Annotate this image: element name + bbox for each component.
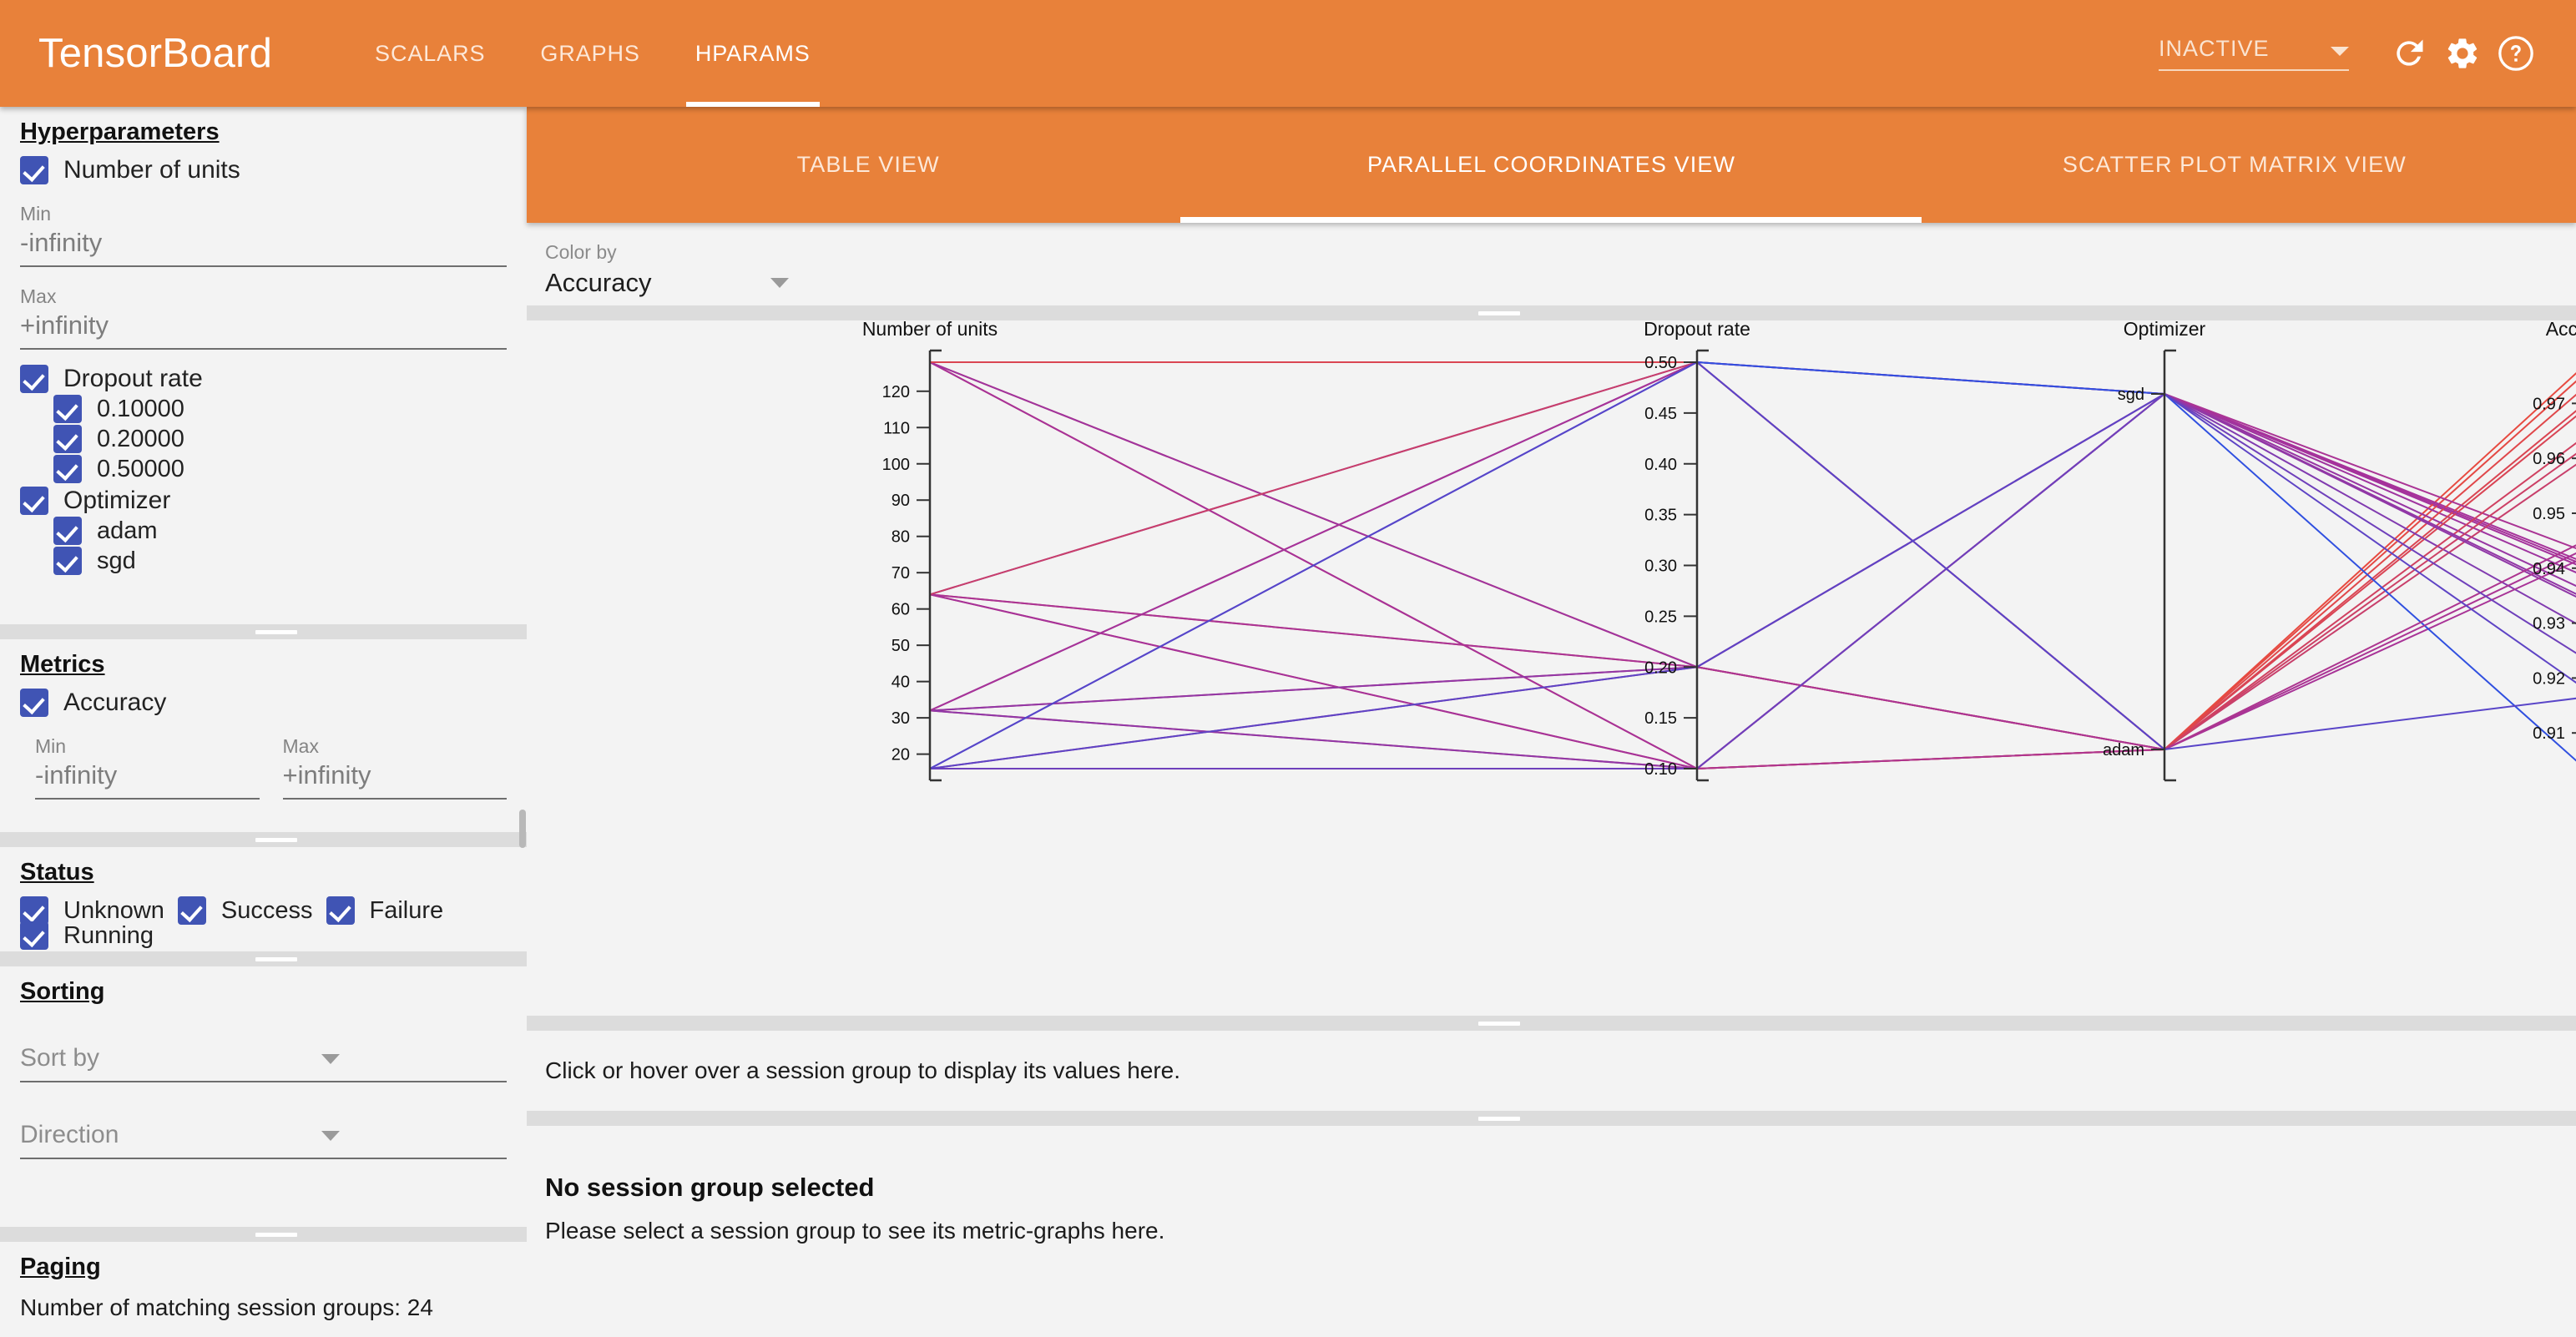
svg-text:0.35: 0.35 xyxy=(1644,507,1677,525)
svg-text:0.91: 0.91 xyxy=(2533,724,2565,743)
pc-line[interactable] xyxy=(930,362,2576,710)
sidebar: Hyperparameters Number of units Min -inf… xyxy=(0,107,527,1337)
svg-text:0.15: 0.15 xyxy=(1644,709,1677,728)
svg-text:Accuracy: Accuracy xyxy=(2546,320,2576,340)
checkbox-icon[interactable] xyxy=(53,547,82,575)
checkbox-icon[interactable] xyxy=(53,395,82,423)
svg-text:0.30: 0.30 xyxy=(1644,558,1677,576)
checkbox-icon[interactable] xyxy=(326,896,355,925)
sorting-panel: Sorting Sort by Direction xyxy=(0,966,527,1227)
svg-text:0.94: 0.94 xyxy=(2533,560,2565,578)
panel-resize-handle-3[interactable] xyxy=(0,951,527,966)
svg-text:80: 80 xyxy=(891,528,910,547)
sort-by-value: Sort by xyxy=(20,1044,507,1081)
checkbox-label: 0.20000 xyxy=(97,426,184,453)
hyperparameters-title: Hyperparameters xyxy=(20,107,220,146)
chevron-down-icon xyxy=(770,278,789,288)
run-status-value: INACTIVE xyxy=(2159,36,2270,62)
checkbox-label: Unknown xyxy=(63,897,164,925)
checkbox-label: adam xyxy=(97,517,158,545)
checkbox-row-number-of-units[interactable]: Number of units xyxy=(20,156,507,184)
pc-line[interactable] xyxy=(930,362,2576,749)
checkbox-icon[interactable] xyxy=(53,455,82,483)
svg-text:100: 100 xyxy=(882,456,910,474)
svg-text:sgd: sgd xyxy=(2118,386,2144,404)
parallel-coordinates-svg[interactable]: Number of units2030405060708090100110120… xyxy=(527,320,2576,1016)
svg-text:adam: adam xyxy=(2103,741,2144,759)
svg-text:0.95: 0.95 xyxy=(2533,505,2565,523)
checkbox-label: Failure xyxy=(370,897,444,925)
direction-value: Direction xyxy=(20,1121,507,1158)
status-panel: Status Unknown Success Failure Running xyxy=(0,847,527,951)
checkbox-icon[interactable] xyxy=(20,487,48,515)
panel-resize-handle-metrics[interactable] xyxy=(527,1111,2576,1126)
resize-grip-icon xyxy=(255,838,297,842)
header-actions: INACTIVE xyxy=(2159,27,2543,80)
direction-select[interactable]: Direction xyxy=(20,1121,507,1159)
pc-line[interactable] xyxy=(930,362,2576,769)
svg-text:0.25: 0.25 xyxy=(1644,608,1677,626)
resize-grip-icon xyxy=(1478,311,1520,315)
checkbox-icon[interactable] xyxy=(178,896,206,925)
checkbox-icon[interactable] xyxy=(20,921,48,950)
checkbox-label: 0.10000 xyxy=(97,396,184,423)
parallel-coordinates-chart[interactable]: Number of units2030405060708090100110120… xyxy=(527,320,2576,1016)
checkbox-row-status-failure[interactable]: Failure xyxy=(326,896,444,925)
svg-text:120: 120 xyxy=(882,383,910,401)
pc-line[interactable] xyxy=(930,394,2576,710)
session-values-panel: Click or hover over a session group to d… xyxy=(527,1031,2576,1111)
chevron-down-icon xyxy=(321,1131,340,1141)
pc-line[interactable] xyxy=(930,394,2576,769)
pc-line[interactable] xyxy=(930,362,2576,769)
svg-text:110: 110 xyxy=(883,419,910,437)
svg-text:0.96: 0.96 xyxy=(2533,450,2565,468)
svg-text:Number of units: Number of units xyxy=(862,320,998,340)
checkbox-row-status-unknown[interactable]: Unknown xyxy=(20,896,164,925)
panel-resize-handle-4[interactable] xyxy=(0,1227,527,1242)
pc-line[interactable] xyxy=(930,362,2576,749)
svg-text:50: 50 xyxy=(891,637,910,655)
app-title: TensorBoard xyxy=(38,30,272,77)
settings-gear-icon[interactable] xyxy=(2436,27,2489,80)
accuracy-min-field[interactable]: Min -infinity xyxy=(35,735,260,800)
pc-line[interactable] xyxy=(930,362,2576,594)
svg-text:0.45: 0.45 xyxy=(1644,405,1677,423)
svg-text:0.97: 0.97 xyxy=(2533,395,2565,413)
paging-panel: Paging Number of matching session groups… xyxy=(0,1242,527,1334)
checkbox-label: Running xyxy=(63,922,154,950)
svg-text:90: 90 xyxy=(891,492,910,510)
nav-item-scalars[interactable]: SCALARS xyxy=(347,0,513,107)
nav-item-graphs[interactable]: GRAPHS xyxy=(513,0,667,107)
svg-text:30: 30 xyxy=(891,709,910,728)
checkbox-icon[interactable] xyxy=(20,689,48,717)
main-nav: SCALARS GRAPHS HPARAMS xyxy=(347,0,838,107)
checkbox-row-status-running[interactable]: Running xyxy=(20,921,154,950)
resize-grip-icon xyxy=(1478,1117,1520,1121)
resize-grip-icon xyxy=(1478,1022,1520,1026)
pc-line[interactable] xyxy=(930,362,2576,749)
accuracy-min-label: Min xyxy=(35,735,260,758)
svg-text:0.50: 0.50 xyxy=(1644,354,1677,372)
refresh-icon[interactable] xyxy=(2382,27,2436,80)
units-max-input[interactable]: +infinity xyxy=(20,310,507,350)
chevron-down-icon xyxy=(2331,47,2349,56)
metrics-panel: Metrics Accuracy Min -infinity Max +infi… xyxy=(0,639,527,832)
pc-line[interactable] xyxy=(930,362,2576,769)
checkbox-icon[interactable] xyxy=(20,156,48,184)
metric-graphs-subtitle: Please select a session group to see its… xyxy=(545,1218,2576,1244)
checkbox-row-optimizer-1[interactable]: sgd xyxy=(53,547,507,575)
pc-line[interactable] xyxy=(930,541,2576,769)
main-content: TABLE VIEW PARALLEL COORDINATES VIEW SCA… xyxy=(527,107,2576,1337)
metric-graphs-panel: No session group selected Please select … xyxy=(527,1126,2576,1276)
accuracy-max-input[interactable]: +infinity xyxy=(283,760,508,800)
units-min-field[interactable]: Min -infinity xyxy=(20,203,507,267)
matching-session-groups-count: Number of matching session groups: 24 xyxy=(20,1294,507,1321)
svg-text:20: 20 xyxy=(891,746,910,764)
status-title: Status xyxy=(20,847,94,886)
checkbox-row-dropout-1[interactable]: 0.20000 xyxy=(53,425,507,453)
nav-item-hparams[interactable]: HPARAMS xyxy=(668,0,838,107)
sidebar-scrollbar-thumb[interactable] xyxy=(519,810,526,848)
checkbox-label: 0.50000 xyxy=(97,456,184,483)
paging-title: Paging xyxy=(20,1242,101,1281)
sorting-title: Sorting xyxy=(20,966,105,1006)
units-max-field[interactable]: Max +infinity xyxy=(20,285,507,350)
svg-text:0.92: 0.92 xyxy=(2533,669,2565,688)
chevron-down-icon xyxy=(321,1054,340,1064)
hyperparameters-panel: Hyperparameters Number of units Min -inf… xyxy=(0,107,527,624)
svg-text:70: 70 xyxy=(891,564,910,583)
view-tabs: TABLE VIEW PARALLEL COORDINATES VIEW SCA… xyxy=(527,107,2576,223)
hover-hint-text: Click or hover over a session group to d… xyxy=(545,1057,1180,1084)
svg-text:40: 40 xyxy=(891,674,910,692)
checkbox-row-optimizer-0[interactable]: adam xyxy=(53,517,507,545)
svg-text:0.40: 0.40 xyxy=(1644,456,1677,474)
accuracy-min-input[interactable]: -infinity xyxy=(35,760,260,800)
checkbox-label: Dropout rate xyxy=(63,365,203,393)
direction-underline xyxy=(20,1158,507,1159)
svg-text:0.20: 0.20 xyxy=(1644,658,1677,677)
checkbox-label: Success xyxy=(221,897,313,925)
resize-grip-icon xyxy=(255,1233,297,1237)
tab-parallel-coordinates-view[interactable]: PARALLEL COORDINATES VIEW xyxy=(1210,107,1892,223)
pc-line[interactable] xyxy=(930,394,2576,769)
checkbox-label: Number of units xyxy=(63,156,240,184)
checkbox-label: sgd xyxy=(97,547,136,575)
checkbox-row-status-success[interactable]: Success xyxy=(178,896,313,925)
svg-text:60: 60 xyxy=(891,601,910,619)
tab-table-view[interactable]: TABLE VIEW xyxy=(527,107,1210,223)
tab-scatter-plot-matrix-view[interactable]: SCATTER PLOT MATRIX VIEW xyxy=(1893,107,2576,223)
accuracy-max-field[interactable]: Max +infinity xyxy=(283,735,508,800)
checkbox-label: Optimizer xyxy=(63,487,170,515)
color-by-label: Color by xyxy=(545,241,804,264)
panel-resize-handle-2[interactable] xyxy=(0,832,527,847)
pc-line[interactable] xyxy=(930,394,2576,769)
checkbox-icon[interactable] xyxy=(20,896,48,925)
pc-line[interactable] xyxy=(930,394,2576,769)
pc-line[interactable] xyxy=(930,387,2576,769)
pc-line[interactable] xyxy=(930,362,2576,769)
checkbox-icon[interactable] xyxy=(53,517,82,545)
help-circle-icon[interactable] xyxy=(2489,27,2543,80)
sort-by-select[interactable]: Sort by xyxy=(20,1044,507,1082)
svg-text:Optimizer: Optimizer xyxy=(2124,320,2206,340)
color-by-value: Accuracy xyxy=(545,264,804,305)
svg-text:0.93: 0.93 xyxy=(2533,615,2565,633)
metrics-title: Metrics xyxy=(20,639,105,679)
panel-resize-handle-1[interactable] xyxy=(0,624,527,639)
units-min-label: Min xyxy=(20,203,507,225)
svg-text:Dropout rate: Dropout rate xyxy=(1644,320,1750,340)
checkbox-icon[interactable] xyxy=(20,365,48,393)
checkbox-row-optimizer[interactable]: Optimizer xyxy=(20,487,507,515)
accuracy-max-label: Max xyxy=(283,735,508,758)
checkbox-row-dropout-rate[interactable]: Dropout rate xyxy=(20,365,507,393)
panel-resize-handle-chart-bottom[interactable] xyxy=(527,1016,2576,1031)
checkbox-row-accuracy[interactable]: Accuracy xyxy=(20,689,507,717)
sort-by-underline xyxy=(20,1081,507,1082)
units-min-input[interactable]: -infinity xyxy=(20,228,507,267)
units-max-label: Max xyxy=(20,285,507,308)
checkbox-row-dropout-0[interactable]: 0.10000 xyxy=(53,395,507,423)
color-by-bar: Color by Accuracy xyxy=(527,223,2576,305)
checkbox-label: Accuracy xyxy=(63,689,166,717)
checkbox-row-dropout-2[interactable]: 0.50000 xyxy=(53,455,507,483)
pc-line[interactable] xyxy=(930,362,2576,749)
app-header: TensorBoard SCALARS GRAPHS HPARAMS INACT… xyxy=(0,0,2576,107)
resize-grip-icon xyxy=(255,957,297,961)
svg-text:0.10: 0.10 xyxy=(1644,760,1677,779)
run-status-select[interactable]: INACTIVE xyxy=(2159,36,2349,71)
resize-grip-icon xyxy=(255,630,297,634)
color-by-select[interactable]: Color by Accuracy xyxy=(545,241,804,307)
metric-graphs-title: No session group selected xyxy=(545,1173,2576,1203)
panel-resize-handle-chart-top[interactable] xyxy=(527,305,2576,320)
checkbox-icon[interactable] xyxy=(53,425,82,453)
